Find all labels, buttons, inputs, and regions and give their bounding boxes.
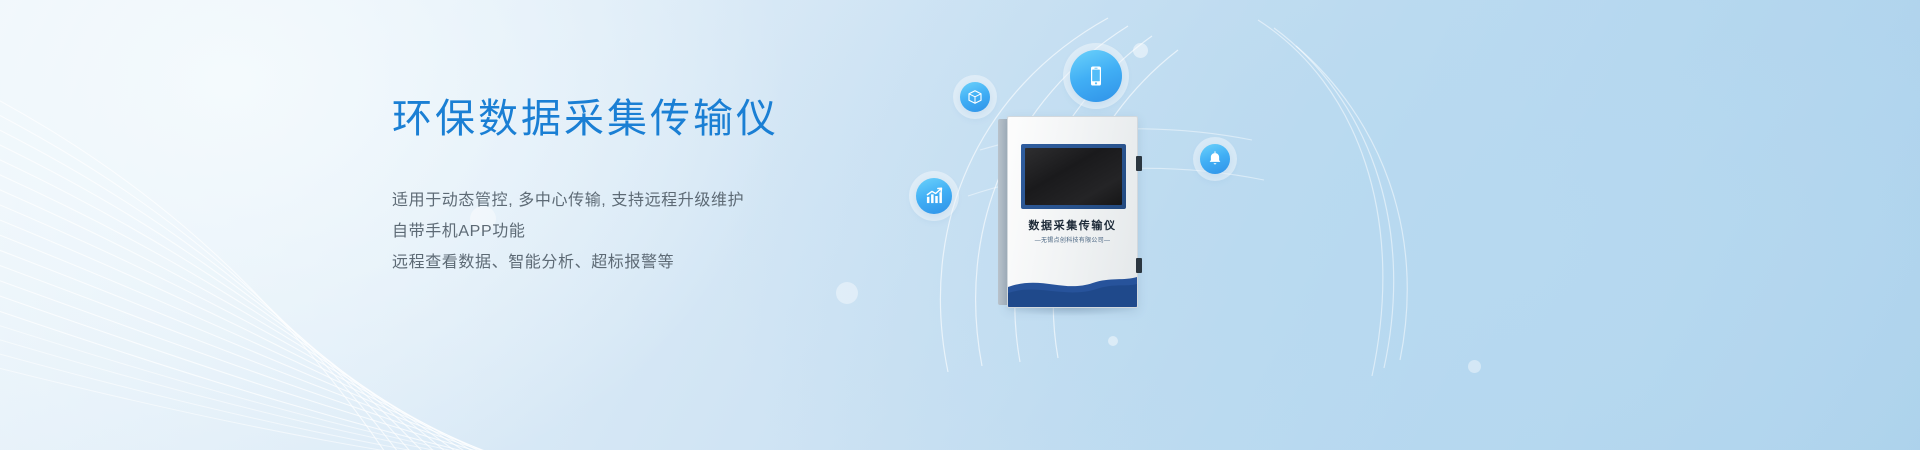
- banner-subtitle-list: 适用于动态管控, 多中心传输, 支持远程升级维护 自带手机APP功能 远程查看数…: [392, 185, 912, 278]
- device-screen-bezel: [1021, 144, 1126, 209]
- device-hinge-top: [1136, 156, 1142, 171]
- device-hinge-bottom: [1136, 258, 1142, 273]
- banner-title: 环保数据采集传输仪: [392, 96, 912, 143]
- device-screen: [1025, 148, 1122, 205]
- device-body: 数据采集传输仪 —无锡点创科技有限公司—: [1007, 116, 1138, 308]
- banner-text-block: 环保数据采集传输仪 适用于动态管控, 多中心传输, 支持远程升级维护 自带手机A…: [392, 96, 912, 278]
- banner-subtitle-line-3: 远程查看数据、智能分析、超标报警等: [392, 247, 912, 278]
- bubble-decoration: [836, 282, 858, 304]
- smartphone-icon[interactable]: [1070, 50, 1122, 102]
- banner-subtitle-line-2: 自带手机APP功能: [392, 216, 912, 247]
- alarm-icon[interactable]: [1200, 144, 1230, 174]
- banner-subtitle-line-1: 适用于动态管控, 多中心传输, 支持远程升级维护: [392, 185, 912, 216]
- data-collector-device: 数据采集传输仪 —无锡点创科技有限公司—: [998, 116, 1138, 308]
- hero-banner: 环保数据采集传输仪 适用于动态管控, 多中心传输, 支持远程升级维护 自带手机A…: [0, 0, 1920, 450]
- device-sublabel: —无锡点创科技有限公司—: [1008, 235, 1137, 244]
- bar-chart-icon[interactable]: [916, 178, 952, 214]
- device-wave-graphic: [1008, 273, 1137, 307]
- product-scene: 数据采集传输仪 —无锡点创科技有限公司—: [860, 0, 1560, 450]
- cube-icon[interactable]: [960, 82, 990, 112]
- device-label: 数据采集传输仪: [1008, 217, 1137, 233]
- concentric-arcs-decoration: [860, 0, 1560, 450]
